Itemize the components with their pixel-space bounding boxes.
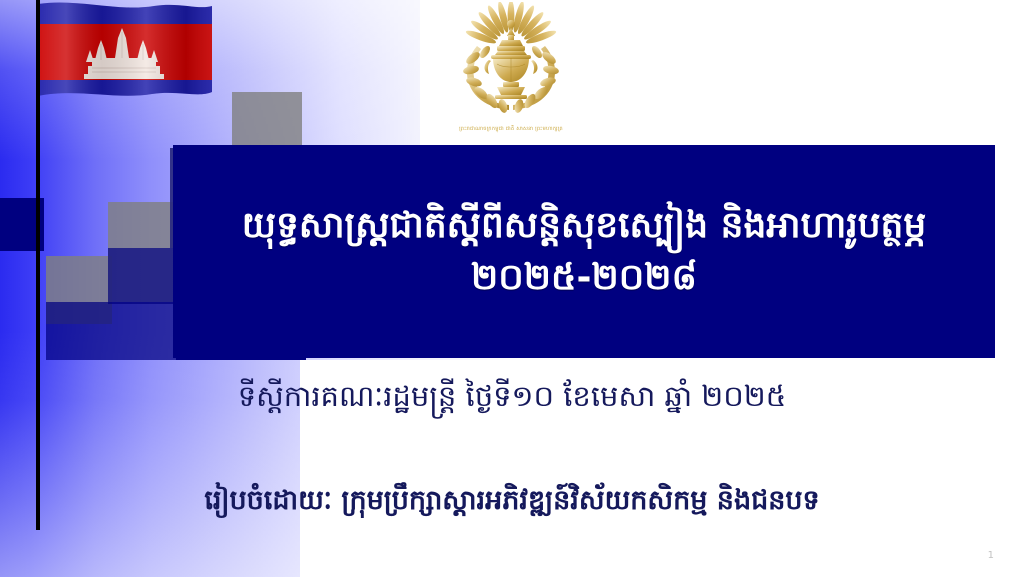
emblem-caption: ព្រះរាជាណាចក្រកម្ពុជា ជាតិ សាសនា ព្រះមហា… [447, 126, 575, 132]
cambodia-flag-icon [22, 0, 222, 110]
slide-title-line-2: ២០២៥-២០២៨ [471, 252, 697, 303]
page-number: 1 [988, 550, 994, 561]
prepared-by-line: រៀបចំដោយៈ ក្រុមប្រឹក្សាស្ដារអភិវឌ្ឍន៍វិស… [0, 483, 1024, 518]
slide-title-line-1: យុទ្ធសាស្ត្រជាតិស្ដីពីសន្តិសុខស្បៀង និងអ… [242, 200, 927, 251]
title-banner: យុទ្ធសាស្ត្រជាតិស្ដីពីសន្តិសុខស្បៀង និងអ… [173, 145, 995, 358]
deco-block-navy-bottom [46, 302, 176, 360]
cambodia-royal-emblem-icon: ព្រះរាជាណាចក្រកម្ពុជា ជាតិ សាសនា ព្រះមហា… [447, 2, 575, 134]
venue-and-date: ទីស្ដីការគណៈរដ្ឋមន្ត្រី ថ្ងៃទី១០ ខែមេសា … [0, 378, 1024, 416]
presentation-slide: ព្រះរាជាណាចក្រកម្ពុជា ជាតិ សាសនា ព្រះមហា… [0, 0, 1024, 577]
flagpole [36, 0, 40, 530]
